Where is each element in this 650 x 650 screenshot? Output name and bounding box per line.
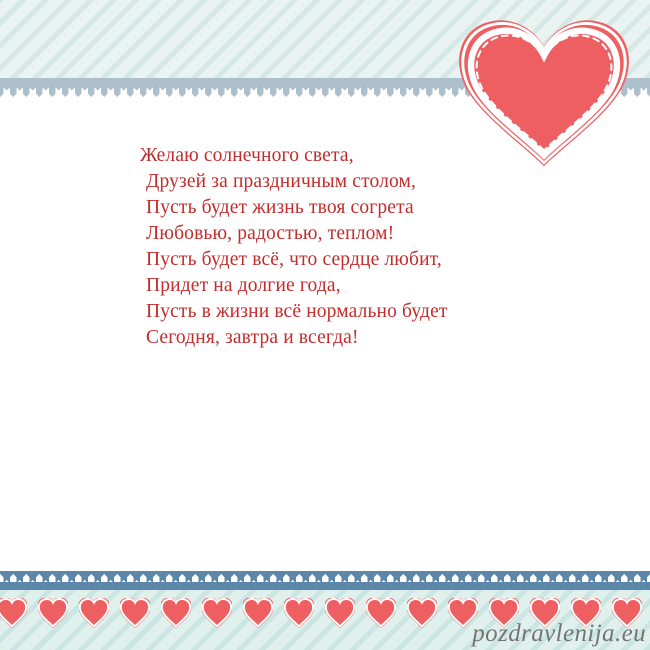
- verse-line: Желаю солнечного света,: [140, 143, 570, 169]
- mini-heart-icon: [202, 598, 232, 628]
- verse-line: Пусть в жизни всё нормально будет: [140, 299, 570, 325]
- mini-heart-icon: [407, 598, 437, 628]
- mini-heart-icon: [284, 598, 314, 628]
- verse-line: Сегодня, завтра и всегда!: [140, 325, 570, 351]
- bottom-blue-band: [0, 582, 650, 590]
- verse-line: Любовью, радостью, теплом!: [140, 221, 570, 247]
- verse-line: Друзей за праздничным столом,: [140, 169, 570, 195]
- mini-heart-icon: [366, 598, 396, 628]
- mini-heart-icon: [0, 598, 27, 628]
- verse-line: Пусть будет жизнь твоя согрета: [140, 195, 570, 221]
- mini-heart-icon: [38, 598, 68, 628]
- verse-line: Пусть будет всё, что сердце любит,: [140, 247, 570, 273]
- mini-heart-icon: [161, 598, 191, 628]
- verse-line: Придет на долгие года,: [140, 273, 570, 299]
- verse-text: Желаю солнечного света, Друзей за праздн…: [140, 143, 570, 351]
- bottom-zigzag-edge-icon: [0, 571, 650, 583]
- watermark-label: pozdravlenija.eu: [472, 620, 646, 648]
- mini-heart-icon: [243, 598, 273, 628]
- mini-heart-icon: [325, 598, 355, 628]
- greeting-card: Желаю солнечного света, Друзей за праздн…: [0, 0, 650, 650]
- mini-heart-icon: [79, 598, 109, 628]
- mini-heart-icon: [120, 598, 150, 628]
- bottom-border: pozdravlenija.eu: [0, 570, 650, 650]
